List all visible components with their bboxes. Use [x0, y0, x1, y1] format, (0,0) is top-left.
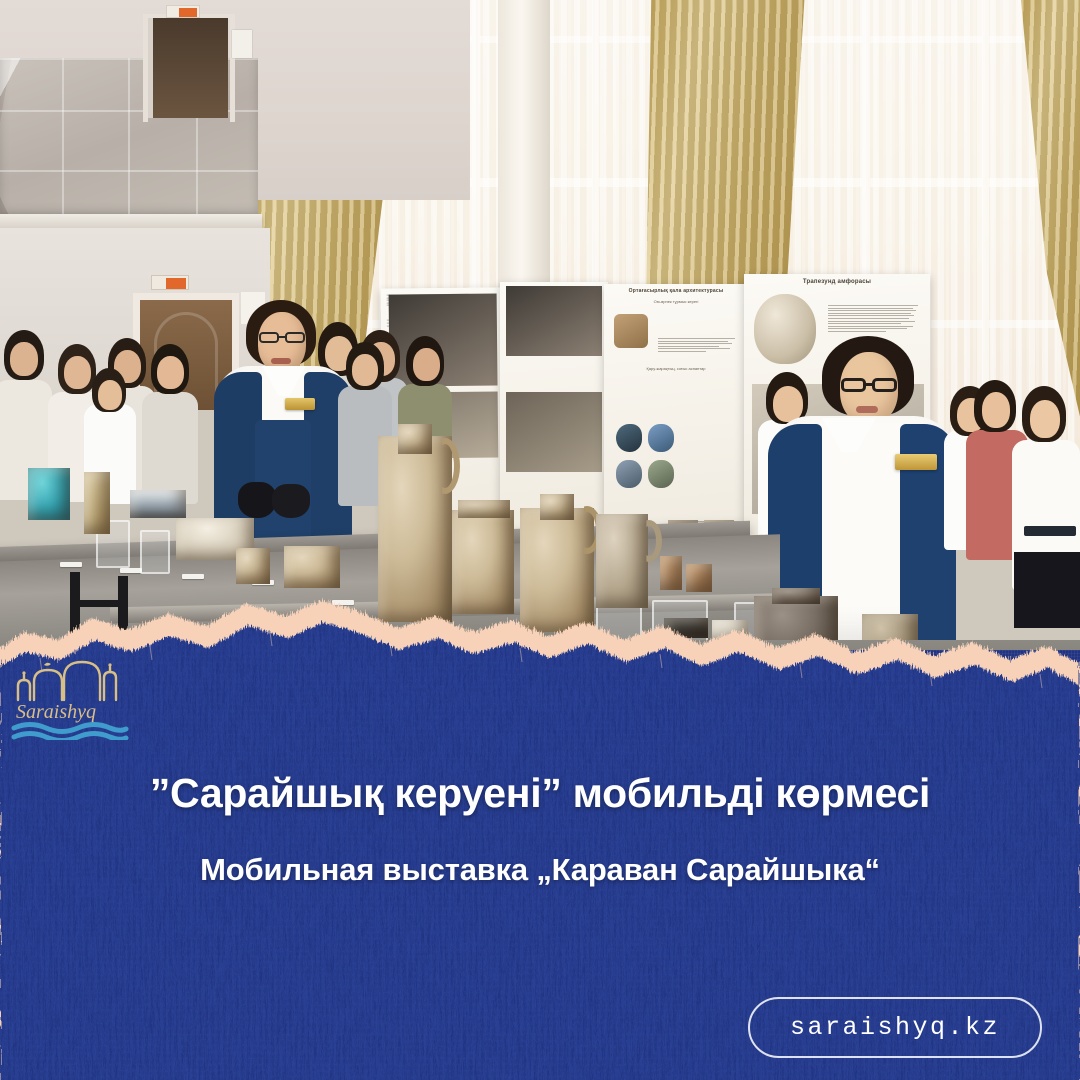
armani-logo-strip [1024, 526, 1076, 536]
amphora-neck [398, 424, 432, 454]
wall-notice-upper [232, 30, 252, 58]
banner-3-heading: Ортағасырлық қала архитектурасы [604, 284, 748, 294]
exit-sign-lower-icon [151, 275, 189, 290]
banner-3-sub: Ою-өрнек тұрмыс керегі [604, 299, 748, 304]
black-glove [272, 484, 310, 518]
website-url-text: saraishyq.kz [790, 1013, 1000, 1042]
page-title: ”Сарайшық керуені” мобильді көрмесі [0, 770, 1080, 817]
black-glove [238, 482, 276, 518]
glazed-bowl [130, 490, 186, 518]
website-url-pill[interactable]: saraishyq.kz [748, 997, 1042, 1058]
ceramic-jug-neck [540, 494, 574, 520]
guide-name-badge [285, 398, 315, 410]
guide-name-badge [895, 454, 937, 470]
banner-3-sub2: Қару-жарақтың, соғыс аспаптар [604, 366, 748, 371]
exit-sign-upper-icon [166, 5, 200, 18]
page-subtitle: Мобильная выставка „Караван Сарайшыка“ [0, 852, 1080, 888]
banner-4-heading: Трапезунд амфорасы [744, 274, 930, 285]
upper-door [148, 18, 228, 118]
medium-pot-rim [458, 500, 510, 518]
carved-stone-column [84, 472, 110, 534]
turquoise-jug [28, 468, 70, 520]
logo-wordmark: Saraishyq [16, 701, 96, 723]
hall-pillar [498, 0, 550, 300]
social-media-poster: Қыш құбырлар Ортағасырлық қала архитекту… [0, 0, 1080, 1080]
saraishyq-logo[interactable]: Saraishyq [8, 648, 130, 740]
